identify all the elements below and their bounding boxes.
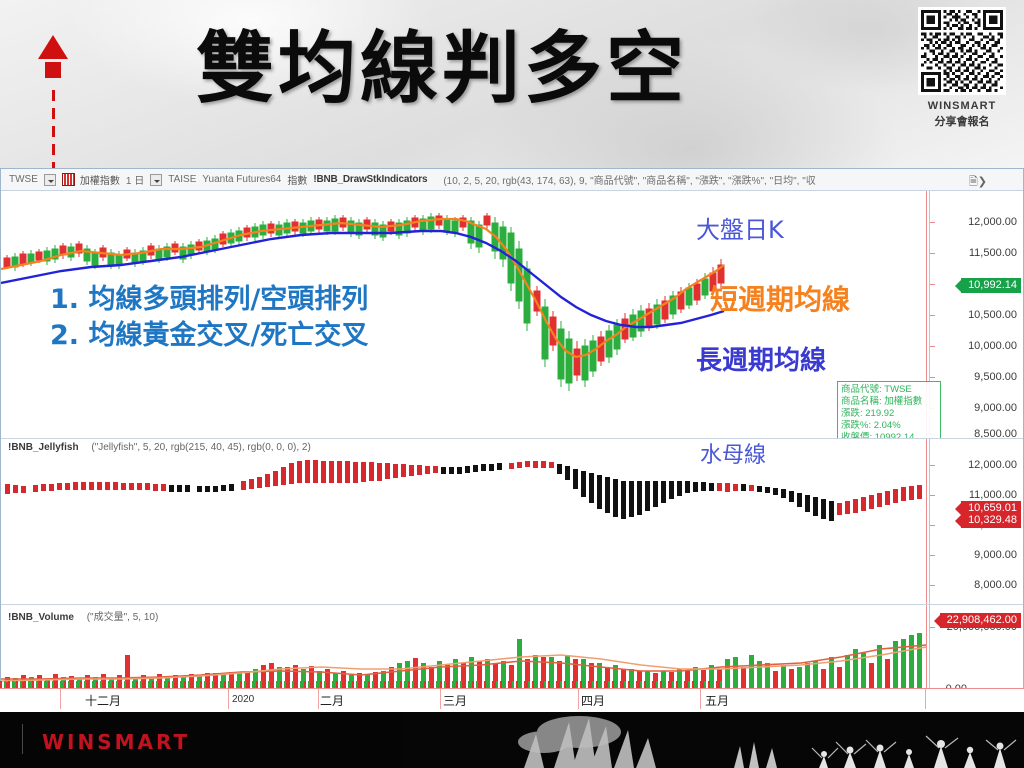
info-line-change: 漲跌: 219.92 [841, 408, 937, 420]
symbol-info-box: 商品代號: TWSE 商品名稱: 加權指數 漲跌: 219.92 漲跌%: 2.… [837, 381, 941, 439]
crosshair-vertical-line [926, 439, 927, 604]
info-line-name: 商品名稱: 加權指數 [841, 396, 937, 408]
script-name-label[interactable]: !BNB_DrawStkIndicators [313, 174, 427, 185]
price-axis[interactable]: 12,000.00 11,500.00 10,992.14 10,500.00 … [929, 191, 1023, 438]
qr-signup-block[interactable]: WINSMART 分享會報名 [914, 7, 1010, 129]
date-label: 四月 [581, 692, 605, 709]
last-price-tag: 10,992.14 [961, 278, 1021, 293]
qr-code-icon[interactable] [918, 7, 1006, 95]
page-title: 雙均線判多空 [196, 30, 688, 108]
footer-banner: WINSMART [0, 712, 1024, 768]
jellyfish-tick: 8,000.00 [974, 579, 1017, 591]
jellyfish-tag-ma20: 10,329.48 [961, 513, 1021, 528]
qr-brand-label: WINSMART [914, 100, 1010, 112]
annotation-bullet-2: 2. 均線黃金交叉/死亡交叉 [50, 318, 368, 354]
jellyfish-pane: !BNB_Jellyfish ("Jellyfish", 5, 20, rgb(… [1, 439, 1023, 605]
jellyfish-axis[interactable]: 12,000.00 11,000.00 10,000.00 10,659.01 … [929, 439, 1023, 604]
info-line-code: 商品代號: TWSE [841, 384, 937, 396]
footer-brand-label: WINSMART [42, 730, 190, 754]
footer-artwork [404, 712, 1024, 768]
symbol-label: TWSE [9, 174, 38, 185]
chevron-down-icon[interactable] [44, 174, 56, 186]
jellyfish-chart-svg [1, 439, 931, 605]
arrow-square-icon [45, 62, 61, 78]
chart-toolbar: TWSE 加權指數 1 日 TAISE Yuanta Futures64 指數 … [1, 169, 1023, 191]
category-label: 指數 [287, 172, 307, 187]
arrow-dashed-line [52, 90, 55, 168]
jellyfish-pane-label: !BNB_Jellyfish ("Jellyfish", 5, 20, rgb(… [8, 442, 311, 453]
annotation-jellyfish: 水母線 [700, 437, 766, 469]
jellyfish-tick: 11,000.00 [969, 489, 1017, 501]
period-label: 1 日 [126, 172, 144, 187]
red-up-arrow-marker [36, 35, 70, 168]
volume-pane-label: !BNB_Volume ("成交量", 5, 10) [8, 608, 158, 623]
price-tick: 8,500.00 [974, 428, 1017, 439]
red-board-icon[interactable] [62, 173, 75, 186]
date-label: 二月 [320, 692, 344, 709]
jellyfish-script-name[interactable]: !BNB_Jellyfish [8, 442, 79, 453]
price-tick: 10,000.00 [968, 340, 1017, 352]
volume-tag: 22,908,462.00 [940, 613, 1021, 628]
slide-root: 雙均線判多空 [0, 0, 1024, 768]
date-label: 十二月 [85, 692, 121, 709]
date-label: 五月 [705, 692, 729, 709]
annotation-bullet-1: 1. 均線多頭排列/空頭排列 [50, 282, 368, 318]
price-tick: 10,500.00 [968, 309, 1017, 321]
annotation-long-ma: 長週期均線 [696, 340, 826, 377]
trading-chart-window: TWSE 加權指數 1 日 TAISE Yuanta Futures64 指數 … [0, 168, 1024, 712]
broker-label: Yuanta Futures64 [202, 174, 281, 185]
volume-script-name[interactable]: !BNB_Volume [8, 612, 74, 623]
qr-signup-label: 分享會報名 [914, 113, 1010, 129]
price-tick: 9,500.00 [974, 371, 1017, 383]
jellyfish-tick: 12,000.00 [968, 459, 1017, 471]
arrow-triangle-icon [38, 35, 68, 59]
jellyfish-tick: 9,000.00 [974, 549, 1017, 561]
annotation-daily-k: 大盤日K [696, 210, 784, 245]
price-tick: 9,000.00 [974, 402, 1017, 414]
volume-tick-strip [0, 678, 930, 688]
jellyfish-plot [1, 439, 931, 604]
date-label: 三月 [443, 692, 467, 709]
panel-toggle-icon[interactable]: 🗎❯ [969, 173, 987, 192]
date-label-year: 2020 [232, 694, 254, 705]
annotation-bullets: 1. 均線多頭排列/空頭排列 2. 均線黃金交叉/死亡交叉 [50, 282, 368, 354]
index-name-label: 加權指數 [80, 172, 120, 187]
jellyfish-script-args: ("Jellyfish", 5, 20, rgb(215, 40, 45), r… [91, 442, 310, 453]
exchange-label: TAISE [168, 174, 196, 185]
price-tick: 11,500.00 [969, 247, 1017, 259]
period-chevron-down-icon[interactable] [150, 174, 162, 186]
slide-header: 雙均線判多空 [0, 0, 1024, 168]
date-axis[interactable]: 十二月 2020 二月 三月 四月 五月 [0, 688, 1024, 712]
volume-script-args: ("成交量", 5, 10) [87, 612, 159, 623]
script-params-label: (10, 2, 5, 20, rgb(43, 174, 63), 9, "商品代… [443, 172, 815, 187]
info-line-change-pct: 漲跌%: 2.04% [841, 420, 937, 432]
annotation-short-ma: 短週期均線 [710, 278, 850, 318]
price-tick: 12,000.00 [968, 216, 1017, 228]
info-line-close: 收盤價: 10992.14 [841, 432, 937, 439]
footer-divider [22, 724, 23, 754]
